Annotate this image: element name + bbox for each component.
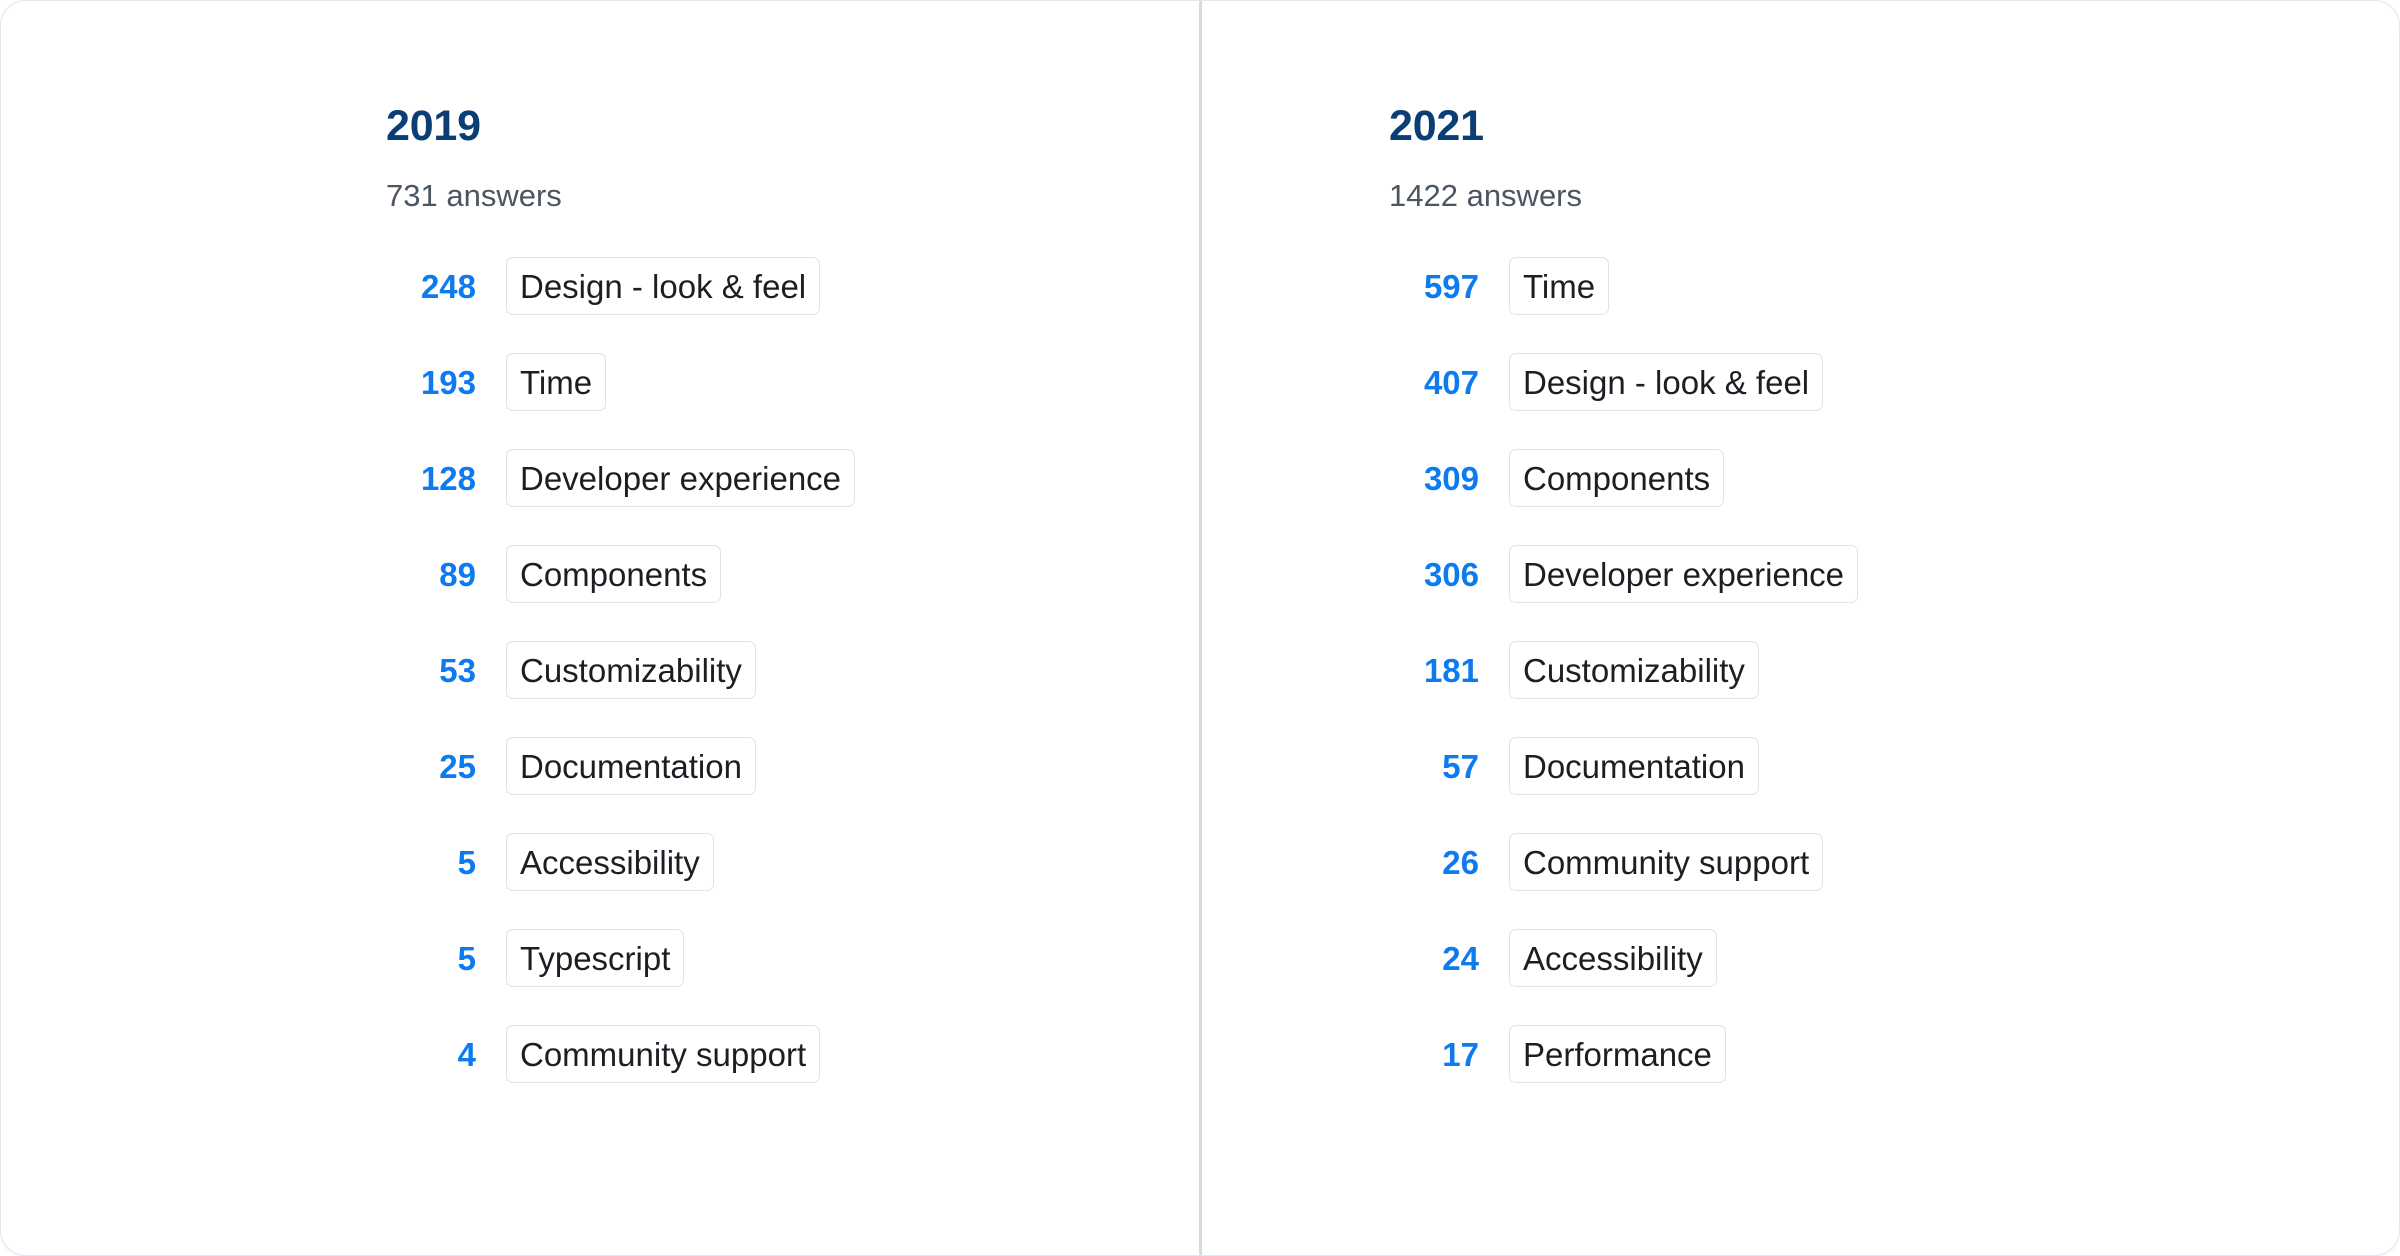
result-count: 26	[1389, 846, 1479, 879]
result-row[interactable]: 24 Accessibility	[1389, 929, 2399, 987]
result-label-chip[interactable]: Customizability	[1509, 641, 1759, 699]
result-label-chip[interactable]: Time	[1509, 257, 1609, 315]
result-row[interactable]: 407 Design - look & feel	[1389, 353, 2399, 411]
result-count: 306	[1389, 558, 1479, 591]
result-row[interactable]: 4 Community support	[386, 1025, 1199, 1083]
result-count: 25	[386, 750, 476, 783]
result-row[interactable]: 128 Developer experience	[386, 449, 1199, 507]
panel-title-2019: 2019	[386, 105, 1199, 148]
result-label-chip[interactable]: Typescript	[506, 929, 684, 987]
result-count: 128	[386, 462, 476, 495]
result-count: 597	[1389, 270, 1479, 303]
result-count: 24	[1389, 942, 1479, 975]
result-label-chip[interactable]: Documentation	[506, 737, 756, 795]
result-count: 181	[1389, 654, 1479, 687]
result-row[interactable]: 193 Time	[386, 353, 1199, 411]
panel-2019: 2019 731 answers 248 Design - look & fee…	[1, 1, 1199, 1255]
comparison-card: 2019 731 answers 248 Design - look & fee…	[0, 0, 2400, 1256]
result-label-chip[interactable]: Accessibility	[1509, 929, 1717, 987]
result-row[interactable]: 248 Design - look & feel	[386, 257, 1199, 315]
result-row[interactable]: 309 Components	[1389, 449, 2399, 507]
result-row[interactable]: 5 Accessibility	[386, 833, 1199, 891]
result-label-chip[interactable]: Design - look & feel	[1509, 353, 1823, 411]
panel-answers-count-2021: 1422 answers	[1389, 180, 2399, 211]
result-label-chip[interactable]: Developer experience	[506, 449, 855, 507]
result-label-chip[interactable]: Community support	[506, 1025, 820, 1083]
result-count: 57	[1389, 750, 1479, 783]
result-count: 17	[1389, 1038, 1479, 1071]
result-row[interactable]: 181 Customizability	[1389, 641, 2399, 699]
result-count: 89	[386, 558, 476, 591]
result-label-chip[interactable]: Community support	[1509, 833, 1823, 891]
result-row[interactable]: 26 Community support	[1389, 833, 2399, 891]
result-label-chip[interactable]: Documentation	[1509, 737, 1759, 795]
result-label-chip[interactable]: Components	[506, 545, 721, 603]
result-label-chip[interactable]: Customizability	[506, 641, 756, 699]
result-label-chip[interactable]: Performance	[1509, 1025, 1726, 1083]
result-row[interactable]: 57 Documentation	[1389, 737, 2399, 795]
result-count: 193	[386, 366, 476, 399]
result-row[interactable]: 597 Time	[1389, 257, 2399, 315]
result-count: 5	[386, 942, 476, 975]
result-label-chip[interactable]: Time	[506, 353, 606, 411]
result-row[interactable]: 25 Documentation	[386, 737, 1199, 795]
result-row[interactable]: 17 Performance	[1389, 1025, 2399, 1083]
result-label-chip[interactable]: Accessibility	[506, 833, 714, 891]
panel-answers-count-2019: 731 answers	[386, 180, 1199, 211]
result-count: 53	[386, 654, 476, 687]
result-row[interactable]: 306 Developer experience	[1389, 545, 2399, 603]
result-list-2021: 597 Time 407 Design - look & feel 309 Co…	[1389, 257, 2399, 1083]
result-count: 4	[386, 1038, 476, 1071]
result-label-chip[interactable]: Design - look & feel	[506, 257, 820, 315]
result-row[interactable]: 53 Customizability	[386, 641, 1199, 699]
result-list-2019: 248 Design - look & feel 193 Time 128 De…	[386, 257, 1199, 1083]
result-label-chip[interactable]: Components	[1509, 449, 1724, 507]
result-row[interactable]: 89 Components	[386, 545, 1199, 603]
result-row[interactable]: 5 Typescript	[386, 929, 1199, 987]
panel-title-2021: 2021	[1389, 105, 2399, 148]
result-count: 407	[1389, 366, 1479, 399]
result-count: 309	[1389, 462, 1479, 495]
result-count: 248	[386, 270, 476, 303]
result-count: 5	[386, 846, 476, 879]
panel-2021: 2021 1422 answers 597 Time 407 Design - …	[1199, 1, 2399, 1255]
result-label-chip[interactable]: Developer experience	[1509, 545, 1858, 603]
